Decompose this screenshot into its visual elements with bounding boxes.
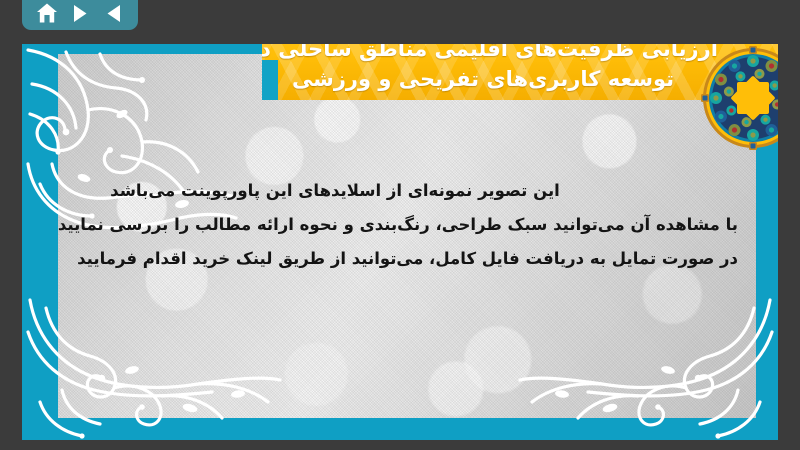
home-icon <box>36 3 58 24</box>
slide-title-line-2: توسعه کاربری‌های تفریحی و ورزشی <box>292 64 674 94</box>
navigation-toolbar <box>22 0 138 30</box>
islamic-medallion-icon <box>701 46 778 150</box>
slide-body-text: این تصویر نمونه‌ای از اسلایدهای این پاور… <box>82 174 738 276</box>
slide-viewer: ارزیابی ظرفیت‌های اقلیمی مناطق ساحلی در … <box>0 0 800 450</box>
back-triangle-icon <box>105 4 122 23</box>
home-button[interactable] <box>33 1 61 25</box>
forward-triangle-icon <box>72 4 89 23</box>
forward-button[interactable] <box>66 1 94 25</box>
banner-left-tab <box>262 60 278 100</box>
slide-body-line-3: در صورت تمایل به دریافت فایل کامل، می‌تو… <box>82 242 738 276</box>
slide-title-line-1: ارزیابی ظرفیت‌های اقلیمی مناطق ساحلی در <box>262 44 718 64</box>
slide-body-line-1: این تصویر نمونه‌ای از اسلایدهای این پاور… <box>82 174 738 208</box>
back-button[interactable] <box>99 1 127 25</box>
slide-body-line-2: با مشاهده آن می‌توانید سبک طراحی، رنگ‌بن… <box>82 208 738 242</box>
presentation-slide: ارزیابی ظرفیت‌های اقلیمی مناطق ساحلی در … <box>22 44 778 440</box>
